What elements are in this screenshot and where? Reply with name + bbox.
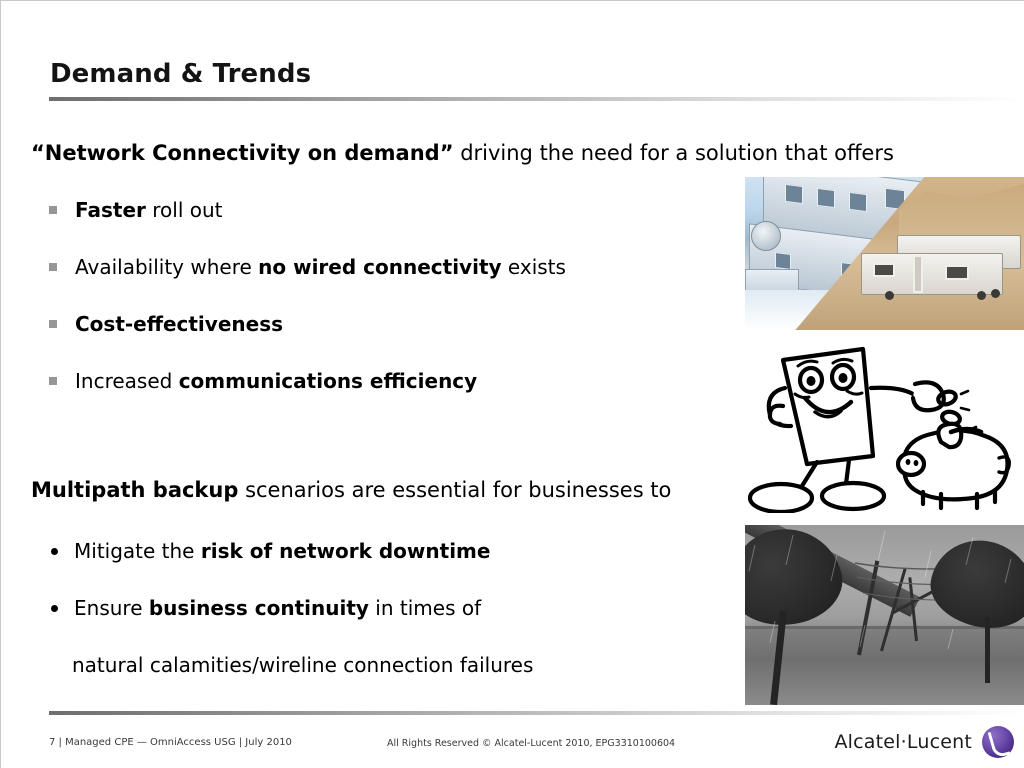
list-item: Cost-effectiveness bbox=[49, 312, 283, 336]
bullet-plain-mid: Availability where bbox=[75, 255, 258, 279]
bullet-plain-mid: Ensure bbox=[74, 596, 149, 620]
title-divider bbox=[49, 97, 1024, 101]
intro-1-rest: driving the need for a solution that off… bbox=[454, 141, 894, 165]
list-item: Increased communications efficiency bbox=[49, 369, 477, 393]
winter-window bbox=[817, 188, 835, 208]
bullet-plain-mid: Mitigate the bbox=[74, 539, 201, 563]
trailer-window bbox=[945, 265, 969, 280]
square-bullet-icon bbox=[49, 377, 57, 385]
round-bullet-icon bbox=[51, 548, 58, 555]
list-item: Faster roll out bbox=[49, 198, 223, 222]
list-item: Mitigate the risk of network downtime bbox=[51, 539, 490, 563]
trailer-wheel bbox=[977, 291, 986, 300]
alcatel-lucent-logo: Alcatel·Lucent bbox=[834, 726, 1014, 758]
logo-emblem-icon bbox=[982, 726, 1014, 758]
bullet-plain-tail: exists bbox=[502, 255, 566, 279]
intro-2-rest: scenarios are essential for businesses t… bbox=[238, 478, 671, 502]
winter-window bbox=[775, 252, 791, 270]
square-bullet-icon bbox=[49, 263, 57, 271]
cartoon-illustration bbox=[745, 336, 1024, 513]
list-item-continuation: natural calamities/wireline connection f… bbox=[72, 653, 533, 677]
round-bullet-icon bbox=[51, 605, 58, 612]
logo-wordmark: Alcatel·Lucent bbox=[834, 731, 972, 753]
intro-1-emphasis: “Network Connectivity on demand” bbox=[31, 141, 454, 165]
bullet-bold-mid: no wired connectivity bbox=[258, 255, 501, 279]
footer-left-text: 7 | Managed CPE — OmniAccess USG | July … bbox=[49, 737, 292, 748]
bullet-plain-tail: in times of bbox=[369, 596, 481, 620]
slide: Demand & Trends “Network Connectivity on… bbox=[0, 0, 1024, 768]
intro-paragraph-1: “Network Connectivity on demand” driving… bbox=[31, 141, 894, 165]
list-item: Ensure business continuity in times of bbox=[51, 596, 481, 620]
trailer-wheel bbox=[885, 291, 894, 300]
winter-window bbox=[785, 184, 803, 204]
bullet-bold-lead: Cost-effectiveness bbox=[75, 312, 283, 336]
bullet-bold-mid: business continuity bbox=[149, 596, 369, 620]
page-title: Demand & Trends bbox=[50, 59, 311, 89]
storm-scene bbox=[745, 525, 1024, 705]
footer-divider bbox=[49, 711, 1024, 715]
storm-damage-photo bbox=[745, 525, 1024, 705]
split-scene bbox=[745, 177, 1024, 330]
trailer-door bbox=[913, 255, 923, 293]
list-item: Availability where no wired connectivity… bbox=[49, 255, 566, 279]
trailer-window bbox=[873, 263, 895, 277]
remote-site-photo bbox=[745, 177, 1024, 330]
bullet-bold-mid: communications efficiency bbox=[179, 369, 478, 393]
bullet-bold-mid: risk of network downtime bbox=[201, 539, 491, 563]
cost-savings-cartoon bbox=[745, 336, 1024, 513]
footer-copyright: All Rights Reserved © Alcatel-Lucent 201… bbox=[387, 738, 675, 749]
bullet-bold-lead: Faster bbox=[75, 198, 146, 222]
bullet-plain-mid: roll out bbox=[146, 198, 223, 222]
bullet-plain-mid: Increased bbox=[75, 369, 179, 393]
rain-haze bbox=[745, 525, 1024, 705]
intro-paragraph-2: Multipath backup scenarios are essential… bbox=[31, 478, 671, 502]
intro-2-emphasis: Multipath backup bbox=[31, 478, 238, 502]
winter-window bbox=[849, 192, 867, 212]
square-bullet-icon bbox=[49, 206, 57, 214]
square-bullet-icon bbox=[49, 320, 57, 328]
satellite-dish-icon bbox=[751, 221, 781, 251]
trailer-wheel bbox=[991, 289, 1000, 298]
